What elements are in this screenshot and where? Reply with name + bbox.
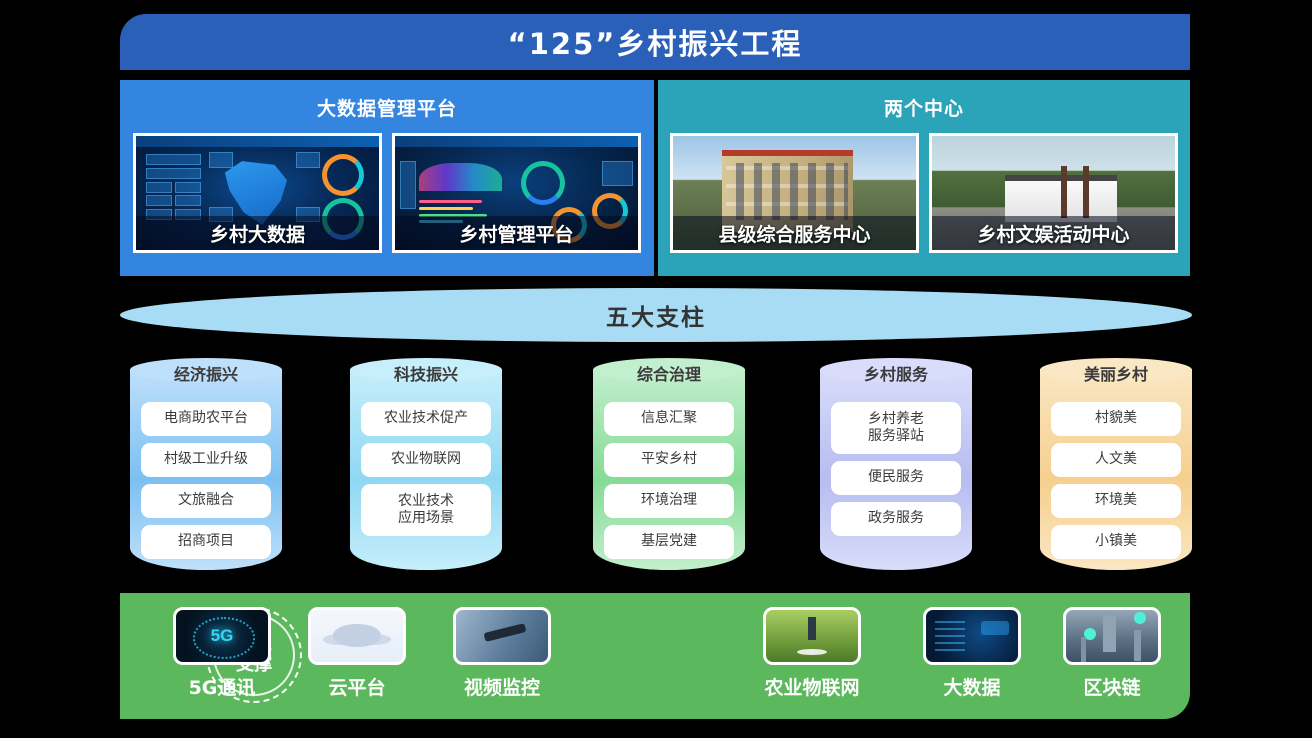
pillar-title: 美丽乡村 xyxy=(1040,360,1192,386)
pillar-cylinder[interactable]: 美丽乡村村貌美人文美环境美小镇美 xyxy=(1040,358,1192,570)
support-item[interactable]: 云平台 xyxy=(305,607,409,700)
support-item-label: 云平台 xyxy=(305,673,409,700)
support-item[interactable]: 农业物联网 xyxy=(760,607,864,700)
panel-big-data-platform: 大数据管理平台 xyxy=(120,80,654,276)
panel-heading-two-centers: 两个中心 xyxy=(658,80,1190,121)
pillar-item[interactable]: 人文美 xyxy=(1051,443,1181,477)
five-pillars-label: 五大支柱 xyxy=(606,298,706,332)
pillar-item[interactable]: 农业物联网 xyxy=(361,443,491,477)
pillar-item[interactable]: 平安乡村 xyxy=(604,443,734,477)
support-item-label: 区块链 xyxy=(1060,673,1164,700)
support-item-label: 大数据 xyxy=(920,673,1024,700)
card-rural-management-platform[interactable]: 乡村管理平台 xyxy=(392,133,641,253)
pillar-item[interactable]: 政务服务 xyxy=(831,502,961,536)
panel-two-centers: 两个中心 县级综合服务中心 乡村文娱活动中心 xyxy=(658,80,1190,276)
support-item[interactable]: 5G通讯 xyxy=(170,607,274,700)
pillar-cylinder[interactable]: 科技振兴农业技术促产农业物联网农业技术应用场景 xyxy=(350,358,502,570)
support-item-label: 农业物联网 xyxy=(740,673,884,700)
panel-heading-big-data: 大数据管理平台 xyxy=(120,80,654,121)
card-rural-culture-center[interactable]: 乡村文娱活动中心 xyxy=(929,133,1178,253)
pillar-item-list: 电商助农平台村级工业升级文旅融合招商项目 xyxy=(141,402,271,559)
video-surveillance-icon xyxy=(453,607,551,665)
support-item[interactable]: 视频监控 xyxy=(450,607,554,700)
support-item-label: 视频监控 xyxy=(450,673,554,700)
page-title: “125”乡村振兴工程 xyxy=(508,21,803,63)
pillar-item[interactable]: 村级工业升级 xyxy=(141,443,271,477)
card-caption: 乡村大数据 xyxy=(136,216,379,250)
panel-card-list-two-centers: 县级综合服务中心 乡村文娱活动中心 xyxy=(658,133,1190,253)
pillar-item[interactable]: 乡村养老服务驿站 xyxy=(831,402,961,454)
card-rural-big-data[interactable]: 乡村大数据 xyxy=(133,133,382,253)
pillar-item[interactable]: 环境治理 xyxy=(604,484,734,518)
support-item[interactable]: 大数据 xyxy=(920,607,1024,700)
pillar-item[interactable]: 信息汇聚 xyxy=(604,402,734,436)
pillar-item[interactable]: 基层党建 xyxy=(604,525,734,559)
pillar-item[interactable]: 电商助农平台 xyxy=(141,402,271,436)
agriculture-iot-icon xyxy=(763,607,861,665)
panel-card-list-big-data: 乡村大数据 乡村管理平台 xyxy=(120,133,654,253)
card-caption: 乡村管理平台 xyxy=(395,216,638,250)
pillar-cylinder-row: 经济振兴电商助农平台村级工业升级文旅融合招商项目科技振兴农业技术促产农业物联网农… xyxy=(120,358,1192,576)
support-item-label: 5G通讯 xyxy=(170,673,274,700)
pillar-item[interactable]: 农业技术应用场景 xyxy=(361,484,491,536)
pillar-item[interactable]: 环境美 xyxy=(1051,484,1181,518)
pillar-title: 综合治理 xyxy=(593,360,745,386)
pillar-item[interactable]: 农业技术促产 xyxy=(361,402,491,436)
pillar-cylinder[interactable]: 乡村服务乡村养老服务驿站便民服务政务服务 xyxy=(820,358,972,570)
pillar-cylinder[interactable]: 经济振兴电商助农平台村级工业升级文旅融合招商项目 xyxy=(130,358,282,570)
cloud-platform-icon xyxy=(308,607,406,665)
card-county-service-center[interactable]: 县级综合服务中心 xyxy=(670,133,919,253)
pillar-item[interactable]: 便民服务 xyxy=(831,461,961,495)
pillar-item-list: 信息汇聚平安乡村环境治理基层党建 xyxy=(604,402,734,559)
big-data-icon xyxy=(923,607,1021,665)
infographic-canvas: “125”乡村振兴工程 大数据管理平台 xyxy=(0,0,1312,738)
pillar-item-list: 村貌美人文美环境美小镇美 xyxy=(1051,402,1181,559)
technical-support-bar: 技术 支撑 5G通讯云平台视频监控农业物联网大数据区块链 xyxy=(120,593,1190,719)
five-pillars-band: 五大支柱 xyxy=(120,288,1192,342)
5g-network-icon xyxy=(173,607,271,665)
pillar-item[interactable]: 小镇美 xyxy=(1051,525,1181,559)
main-title-bar: “125”乡村振兴工程 xyxy=(120,14,1190,70)
pillar-item-list: 乡村养老服务驿站便民服务政务服务 xyxy=(831,402,961,536)
support-item[interactable]: 区块链 xyxy=(1060,607,1164,700)
pillar-title: 经济振兴 xyxy=(130,360,282,386)
pillar-item[interactable]: 村貌美 xyxy=(1051,402,1181,436)
blockchain-icon xyxy=(1063,607,1161,665)
pillar-cylinder[interactable]: 综合治理信息汇聚平安乡村环境治理基层党建 xyxy=(593,358,745,570)
card-caption: 县级综合服务中心 xyxy=(673,216,916,250)
pillar-item[interactable]: 招商项目 xyxy=(141,525,271,559)
pillar-item-list: 农业技术促产农业物联网农业技术应用场景 xyxy=(361,402,491,536)
pillar-title: 科技振兴 xyxy=(350,360,502,386)
pillar-title: 乡村服务 xyxy=(820,360,972,386)
pillar-item[interactable]: 文旅融合 xyxy=(141,484,271,518)
card-caption: 乡村文娱活动中心 xyxy=(932,216,1175,250)
